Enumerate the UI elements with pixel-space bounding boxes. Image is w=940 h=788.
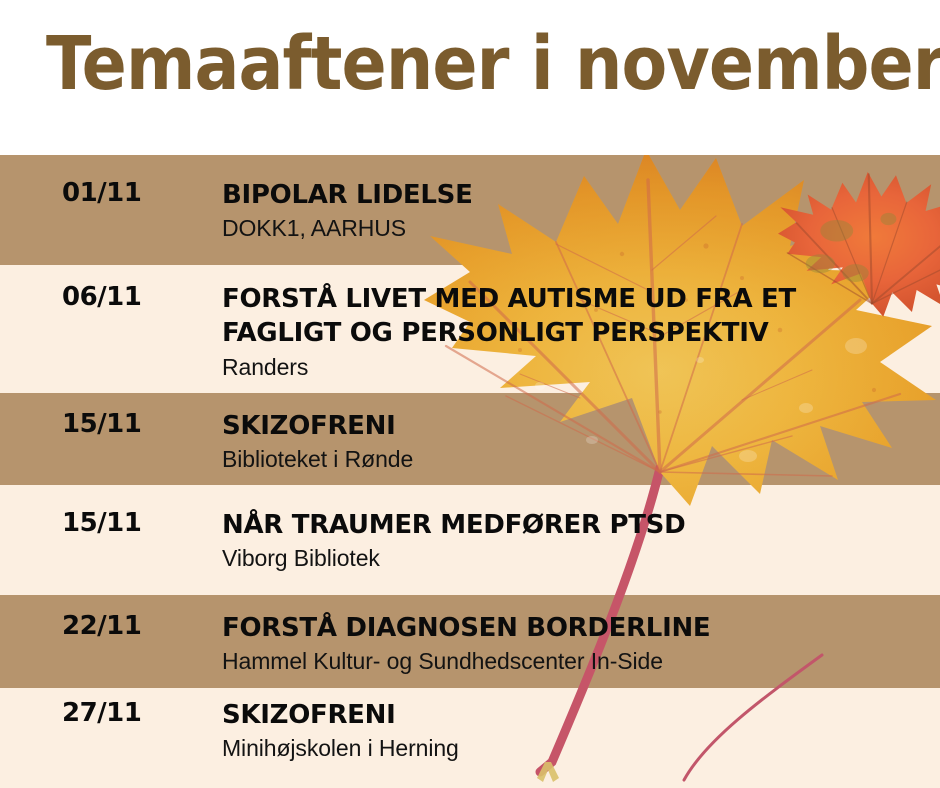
event-venue: Minihøjskolen i Herning <box>222 734 922 763</box>
event-date: 15/11 <box>62 409 141 439</box>
event-title: BIPOLAR LIDELSE <box>222 178 922 212</box>
event-venue: Viborg Bibliotek <box>222 544 922 573</box>
event-body: SKIZOFRENI Minihøjskolen i Herning <box>222 698 922 764</box>
event-date: 15/11 <box>62 508 141 538</box>
event-venue: DOKK1, AARHUS <box>222 214 922 243</box>
event-body: SKIZOFRENI Biblioteket i Rønde <box>222 409 922 475</box>
event-title: NÅR TRAUMER MEDFØRER PTSD <box>222 508 922 542</box>
event-body: FORSTÅ LIVET MED AUTISME UD FRA ET FAGLI… <box>222 282 922 382</box>
page-title: Temaaftener i november <box>46 26 940 104</box>
event-title: FORSTÅ DIAGNOSEN BORDERLINE <box>222 611 922 645</box>
event-date: 06/11 <box>62 282 141 312</box>
event-venue: Randers <box>222 353 922 382</box>
event-body: BIPOLAR LIDELSE DOKK1, AARHUS <box>222 178 922 244</box>
event-title: SKIZOFRENI <box>222 698 922 732</box>
event-title: SKIZOFRENI <box>222 409 922 443</box>
event-venue: Biblioteket i Rønde <box>222 445 922 474</box>
event-body: NÅR TRAUMER MEDFØRER PTSD Viborg Bibliot… <box>222 508 922 574</box>
event-body: FORSTÅ DIAGNOSEN BORDERLINE Hammel Kultu… <box>222 611 922 677</box>
poster-canvas: Temaaftener i november 01/11 BIPOLAR LID… <box>0 0 940 788</box>
event-date: 27/11 <box>62 698 141 728</box>
event-date: 22/11 <box>62 611 141 641</box>
event-title: FORSTÅ LIVET MED AUTISME UD FRA ET FAGLI… <box>222 282 922 351</box>
event-venue: Hammel Kultur- og Sundhedscenter In-Side <box>222 647 922 676</box>
poster-header: Temaaftener i november <box>0 0 940 155</box>
event-date: 01/11 <box>62 178 141 208</box>
